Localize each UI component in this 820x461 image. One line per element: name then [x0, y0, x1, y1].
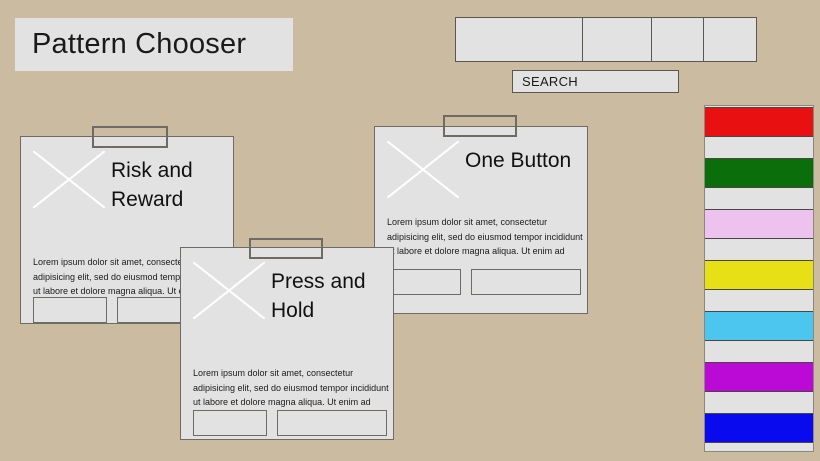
- card-button-2[interactable]: [277, 410, 387, 436]
- card-tab-risk-and-reward[interactable]: [92, 126, 168, 148]
- page-title: Pattern Chooser: [15, 18, 293, 71]
- page-title-text: Pattern Chooser: [32, 28, 246, 61]
- swatch-pink[interactable]: [705, 209, 813, 239]
- card-header: One Button: [387, 141, 571, 198]
- swatch-red[interactable]: [705, 107, 813, 137]
- swatch-magenta[interactable]: [705, 362, 813, 392]
- swatch-yellow[interactable]: [705, 260, 813, 290]
- toolbar-segment-4[interactable]: [704, 18, 756, 61]
- gap-5: [705, 341, 813, 362]
- image-placeholder-x-icon: [193, 262, 265, 319]
- card-body-text: Lorem ipsum dolor sit amet, consectetur …: [387, 215, 583, 259]
- search-input[interactable]: SEARCH: [512, 70, 679, 93]
- gap-6: [705, 392, 813, 413]
- card-title: One Button: [465, 147, 571, 176]
- toolbar-segment-2[interactable]: [583, 18, 652, 61]
- image-placeholder-x-icon: [33, 151, 105, 208]
- gap-1: [705, 137, 813, 158]
- gap-7: [705, 443, 813, 452]
- swatch-green[interactable]: [705, 158, 813, 188]
- toolbar-segment-1[interactable]: [456, 18, 583, 61]
- card-press-and-hold[interactable]: Press and HoldLorem ipsum dolor sit amet…: [180, 247, 394, 440]
- gap-2: [705, 188, 813, 209]
- card-button-1[interactable]: [193, 410, 267, 436]
- card-button-1[interactable]: [387, 269, 461, 295]
- card-button-1[interactable]: [33, 297, 107, 323]
- card-button-2[interactable]: [471, 269, 581, 295]
- card-tab-press-and-hold[interactable]: [249, 238, 323, 259]
- swatch-blue[interactable]: [705, 413, 813, 443]
- canvas: Pattern Chooser SEARCH Risk and RewardLo…: [0, 0, 820, 461]
- swatch-cyan[interactable]: [705, 311, 813, 341]
- toolbar-segment-3[interactable]: [652, 18, 704, 61]
- card-one-button[interactable]: One ButtonLorem ipsum dolor sit amet, co…: [374, 126, 588, 314]
- gap-4: [705, 290, 813, 311]
- card-header: Press and Hold: [193, 262, 366, 326]
- top-toolbar[interactable]: [455, 17, 757, 62]
- card-header: Risk and Reward: [33, 151, 193, 215]
- card-title: Press and Hold: [271, 268, 366, 326]
- card-body-text: Lorem ipsum dolor sit amet, consectetur …: [193, 366, 389, 410]
- image-placeholder-x-icon: [387, 141, 459, 198]
- card-title: Risk and Reward: [111, 157, 193, 215]
- card-tab-one-button[interactable]: [443, 115, 517, 137]
- gap-3: [705, 239, 813, 260]
- search-input-value: SEARCH: [522, 74, 578, 89]
- color-palette[interactable]: [704, 105, 814, 452]
